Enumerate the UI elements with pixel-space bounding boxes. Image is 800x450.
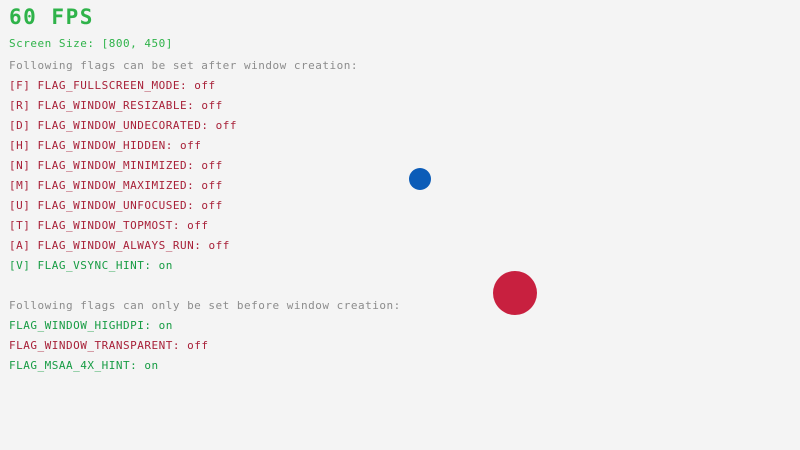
flag-key: [N] [9, 159, 38, 172]
flag-value: off [194, 79, 215, 92]
fps-counter: 60 FPS [9, 7, 94, 28]
flag-name: FLAG_WINDOW_HIGHDPI: [9, 319, 159, 332]
creation-flags-header: Following flags can only be set before w… [9, 300, 401, 311]
flag-value: off [216, 119, 237, 132]
flag-name: FLAG_WINDOW_HIDDEN: [38, 139, 180, 152]
flag-row[interactable]: [R] FLAG_WINDOW_RESIZABLE: off [9, 100, 223, 111]
flag-row[interactable]: [V] FLAG_VSYNC_HINT: on [9, 260, 173, 271]
flag-row[interactable]: [A] FLAG_WINDOW_ALWAYS_RUN: off [9, 240, 230, 251]
flag-row[interactable]: [U] FLAG_WINDOW_UNFOCUSED: off [9, 200, 223, 211]
flag-row[interactable]: [D] FLAG_WINDOW_UNDECORATED: off [9, 120, 237, 131]
runtime-flags-header: Following flags can be set after window … [9, 60, 358, 71]
flag-name: FLAG_MSAA_4X_HINT: [9, 359, 144, 372]
flag-name: FLAG_WINDOW_UNDECORATED: [38, 119, 216, 132]
flag-value: off [201, 179, 222, 192]
flag-row[interactable]: FLAG_WINDOW_HIGHDPI: on [9, 320, 173, 331]
flag-row[interactable]: [T] FLAG_WINDOW_TOPMOST: off [9, 220, 208, 231]
flag-name: FLAG_FULLSCREEN_MODE: [38, 79, 195, 92]
flag-row[interactable]: [H] FLAG_WINDOW_HIDDEN: off [9, 140, 201, 151]
flag-name: FLAG_WINDOW_TRANSPARENT: [9, 339, 187, 352]
flag-key: [F] [9, 79, 38, 92]
flag-row[interactable]: FLAG_WINDOW_TRANSPARENT: off [9, 340, 208, 351]
flag-name: FLAG_WINDOW_MINIMIZED: [38, 159, 202, 172]
screen-size-label: Screen Size: [800, 450] [9, 38, 173, 49]
flag-value: off [187, 219, 208, 232]
flag-value: on [144, 359, 158, 372]
flag-name: FLAG_WINDOW_MAXIMIZED: [38, 179, 202, 192]
flag-value: on [159, 319, 173, 332]
flag-name: FLAG_WINDOW_RESIZABLE: [38, 99, 202, 112]
flag-key: [U] [9, 199, 38, 212]
flag-name: FLAG_VSYNC_HINT: [38, 259, 159, 272]
flag-key: [V] [9, 259, 38, 272]
flag-value: off [180, 139, 201, 152]
flag-name: FLAG_WINDOW_TOPMOST: [38, 219, 188, 232]
flag-name: FLAG_WINDOW_UNFOCUSED: [38, 199, 202, 212]
flag-value: off [201, 99, 222, 112]
flag-value: on [159, 259, 173, 272]
flag-key: [M] [9, 179, 38, 192]
raylib-window-flags-demo: 60 FPS Screen Size: [800, 450] Following… [0, 0, 800, 450]
flag-name: FLAG_WINDOW_ALWAYS_RUN: [38, 239, 209, 252]
flag-key: [D] [9, 119, 38, 132]
flag-key: [R] [9, 99, 38, 112]
flag-row[interactable]: FLAG_MSAA_4X_HINT: on [9, 360, 159, 371]
flag-value: off [201, 159, 222, 172]
flag-key: [H] [9, 139, 38, 152]
flag-row[interactable]: [N] FLAG_WINDOW_MINIMIZED: off [9, 160, 223, 171]
flag-key: [T] [9, 219, 38, 232]
flag-value: off [201, 199, 222, 212]
flag-row[interactable]: [M] FLAG_WINDOW_MAXIMIZED: off [9, 180, 223, 191]
flag-value: off [187, 339, 208, 352]
flag-key: [A] [9, 239, 38, 252]
flag-row[interactable]: [F] FLAG_FULLSCREEN_MODE: off [9, 80, 216, 91]
red-ball [493, 271, 537, 315]
blue-ball [409, 168, 431, 190]
flag-value: off [208, 239, 229, 252]
